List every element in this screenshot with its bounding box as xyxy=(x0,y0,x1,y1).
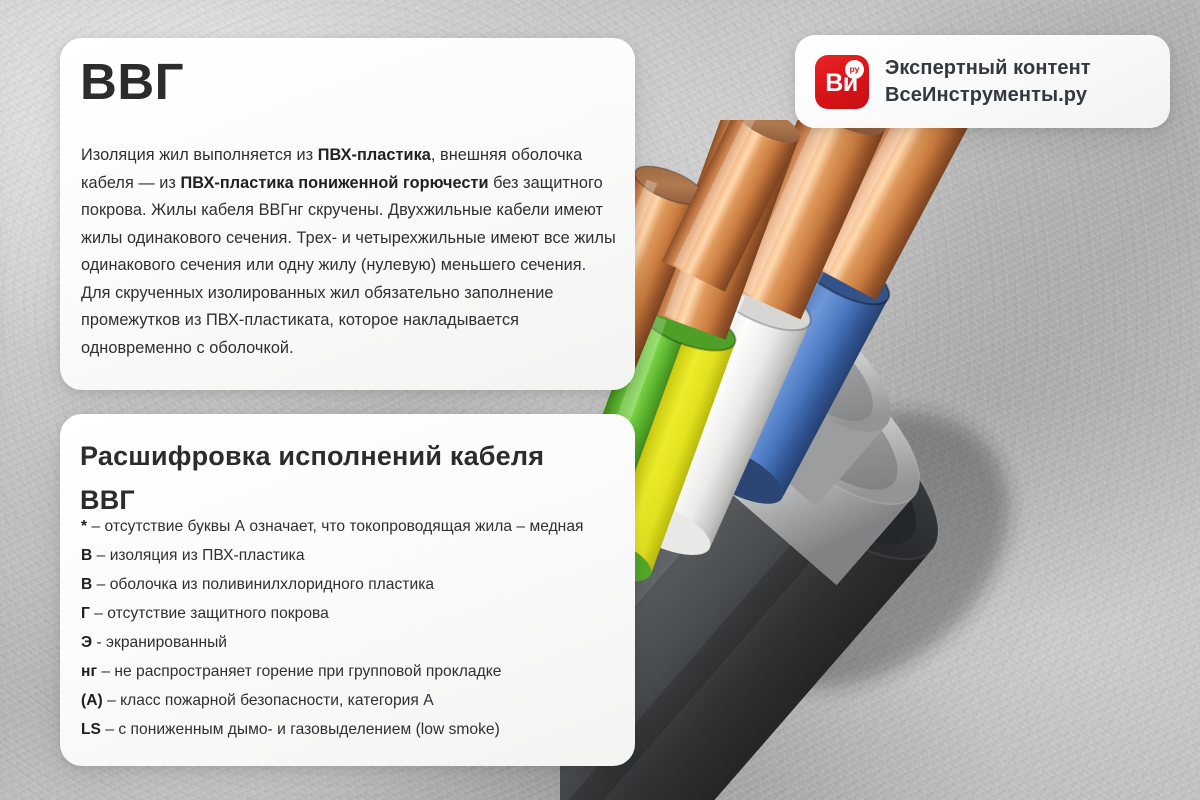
decode-item-text: – отсутствие защитного покрова xyxy=(90,605,329,622)
decode-item-key: (А) xyxy=(81,692,103,709)
decode-heading: Расшифровка исполнений кабеля ВВГ xyxy=(80,434,575,522)
decode-item-text: – с пониженным дымо- и газовыделением (l… xyxy=(101,721,500,738)
decode-card: Расшифровка исполнений кабеля ВВГ * – от… xyxy=(60,414,635,766)
decode-list-item: Г – отсутствие защитного покрова xyxy=(81,599,619,628)
brand-badge[interactable]: Ви ру Экспертный контент ВсеИнструменты.… xyxy=(795,35,1170,128)
decode-list-item: Э - экранированный xyxy=(81,628,619,657)
decode-list-item: В – изоляция из ПВХ-пластика xyxy=(81,541,619,570)
decode-item-key: В xyxy=(81,576,92,593)
decode-item-text: – класс пожарной безопасности, категория… xyxy=(103,692,434,709)
decode-list: * – отсутствие буквы А означает, что ток… xyxy=(81,512,619,744)
intro-text-part1: Изоляция жил выполняется из xyxy=(81,146,318,164)
decode-item-text: – отсутствие буквы А означает, что токоп… xyxy=(87,518,583,535)
intro-text-part3: без защитного покрова. Жилы кабеля ВВГнг… xyxy=(81,174,616,357)
infographic-canvas: ВВГ Изоляция жил выполняется из ПВХ-плас… xyxy=(0,0,1200,800)
decode-item-key: LS xyxy=(81,721,101,738)
logo-ru-chip: ру xyxy=(845,60,864,79)
intro-bold-flame-retardant: ПВХ-пластика пониженной горючести xyxy=(181,174,489,192)
decode-list-item: LS – с пониженным дымо- и газовыделением… xyxy=(81,715,619,744)
decode-item-text: – не распространяет горение при группово… xyxy=(97,663,501,680)
intro-bold-pvc: ПВХ-пластика xyxy=(318,146,431,164)
decode-item-key: Э xyxy=(81,634,92,651)
decode-item-key: нг xyxy=(81,663,97,680)
brand-badge-text: Экспертный контент ВсеИнструменты.ру xyxy=(885,56,1091,107)
badge-line-1: Экспертный контент xyxy=(885,56,1091,80)
page-title: ВВГ xyxy=(80,56,184,107)
decode-item-text: - экранированный xyxy=(92,634,227,651)
decode-list-item: (А) – класс пожарной безопасности, катег… xyxy=(81,686,619,715)
intro-paragraph: Изоляция жил выполняется из ПВХ-пластика… xyxy=(81,142,617,362)
decode-list-item: В – оболочка из поливинилхлоридного плас… xyxy=(81,570,619,599)
intro-card: ВВГ Изоляция жил выполняется из ПВХ-плас… xyxy=(60,38,635,390)
decode-list-item: нг – не распространяет горение при групп… xyxy=(81,657,619,686)
decode-item-text: – изоляция из ПВХ-пластика xyxy=(92,547,304,564)
decode-item-key: Г xyxy=(81,605,90,622)
decode-item-key: В xyxy=(81,547,92,564)
decode-list-item: * – отсутствие буквы А означает, что ток… xyxy=(81,512,619,541)
decode-item-text: – оболочка из поливинилхлоридного пласти… xyxy=(92,576,434,593)
badge-line-2: ВсеИнструменты.ру xyxy=(885,83,1091,107)
vseinstrumenty-logo-icon: Ви ру xyxy=(815,55,869,109)
